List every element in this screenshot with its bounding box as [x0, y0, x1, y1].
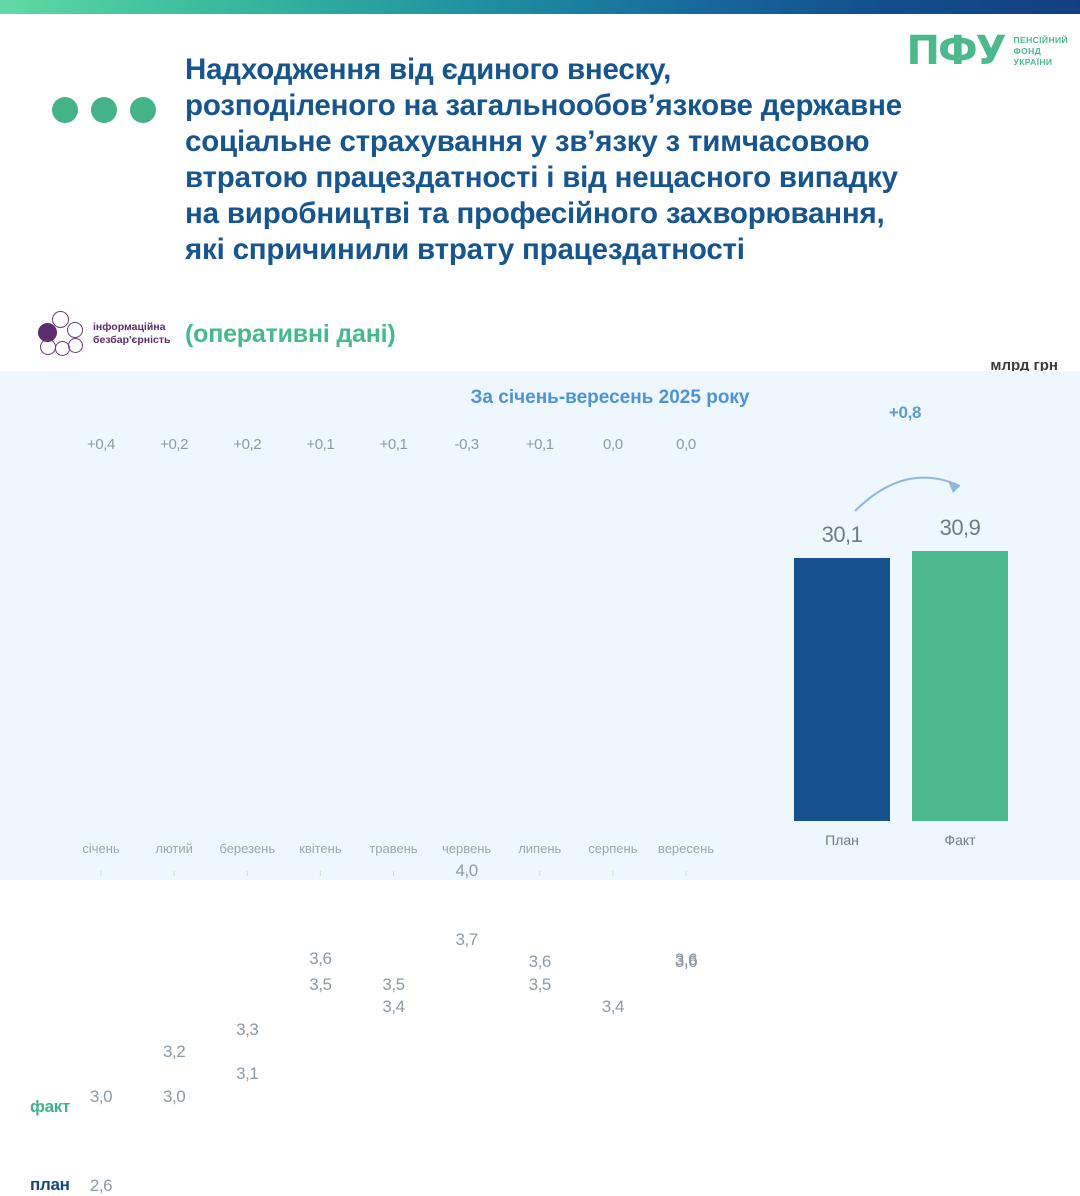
bar-category-label: Факт	[944, 832, 975, 848]
fact-value-label: 3,6	[529, 952, 551, 972]
bar-chart: +0,8 30,1План30,9Факт	[760, 371, 1080, 880]
circle-outline-3	[40, 339, 56, 355]
month-label: липень	[518, 841, 561, 856]
month-label: вересень	[658, 841, 714, 856]
decorative-dots	[52, 97, 156, 123]
bar-факт	[912, 551, 1008, 821]
bar-category-label: План	[825, 832, 859, 848]
fact-value-label: 3,0	[90, 1087, 112, 1107]
pfu-logo-caption: ПЕНСІЙНИЙ ФОНД УКРАЇНИ	[1014, 35, 1068, 68]
circle-outline-1	[52, 311, 69, 328]
plan-value-label: 3,5	[529, 975, 551, 995]
plan-value-label: 3,4	[382, 997, 404, 1017]
dot-3	[130, 97, 156, 123]
plan-value-label: 2,6	[90, 1176, 112, 1196]
accessibility-circles-icon	[38, 310, 86, 358]
axis-label-plan: план	[30, 1175, 70, 1195]
fact-value-label: 3,6	[309, 949, 331, 969]
fact-value-label: 3,2	[163, 1042, 185, 1062]
line-chart: +0,4+0,2+0,2+0,1+0,1-0,3+0,10,00,0 3,03,…	[0, 371, 760, 880]
fact-value-label: 3,3	[236, 1020, 258, 1040]
accessibility-label-line-1: інформаційна	[93, 321, 170, 334]
delta-arrow-icon	[760, 411, 1080, 531]
pfu-logo-caption-line-2: ФОНД	[1014, 46, 1068, 57]
dot-1	[52, 97, 78, 123]
line-chart-svg	[0, 371, 760, 880]
dot-2	[91, 97, 117, 123]
pfu-logo: ПФУ ПЕНСІЙНИЙ ФОНД УКРАЇНИ	[907, 32, 1068, 70]
header-section: Надходження від єдиного внеску, розподіл…	[0, 14, 1080, 371]
page-title-line-1: Надходження від єдиного внеску,	[185, 52, 1015, 88]
plan-value-label: 3,1	[236, 1064, 258, 1084]
page-title-line-3: соціальне страхування у зв’язку з тимчас…	[185, 124, 1015, 160]
chart-panel: За січень-вересень 2025 року +0,4+0,2+0,…	[0, 371, 1080, 880]
month-label: серпень	[588, 841, 637, 856]
month-label: квітень	[299, 841, 341, 856]
page-subtitle: (оперативні дані)	[185, 320, 396, 349]
month-axis: січеньлютийберезеньквітеньтравеньчервень…	[0, 841, 760, 865]
bar-value-label: 30,9	[940, 515, 981, 541]
month-label: січень	[82, 841, 119, 856]
pfu-logo-caption-line-3: УКРАЇНИ	[1014, 57, 1068, 68]
fact-value-label: 3,7	[456, 930, 478, 950]
circle-outline-5	[68, 338, 83, 353]
month-label: травень	[369, 841, 417, 856]
month-label: березень	[219, 841, 275, 856]
month-label: червень	[442, 841, 491, 856]
accessibility-logo: інформаційна безбар'єрність	[38, 310, 170, 358]
page-title: Надходження від єдиного внеску, розподіл…	[185, 52, 1015, 268]
page-title-line-6: які спричинили втрату працездатності	[185, 232, 1015, 268]
page-title-line-2: розподіленого на загальнообов’язкове дер…	[185, 88, 1015, 124]
bar-value-label: 30,1	[822, 522, 863, 548]
accessibility-label-line-2: безбар'єрність	[93, 334, 170, 347]
top-gradient-bar	[0, 0, 1080, 14]
page-title-line-5: на виробництві та професійного захворюва…	[185, 196, 1015, 232]
plan-value-label: 3,4	[602, 997, 624, 1017]
axis-label-fact: факт	[30, 1097, 70, 1117]
fact-value-label: 3,5	[382, 975, 404, 995]
circle-outline-2	[67, 322, 83, 338]
bar-план	[794, 558, 890, 821]
plan-value-label: 3,0	[163, 1087, 185, 1107]
plan-value-label: 3,6	[675, 950, 697, 970]
pfu-logo-caption-line-1: ПЕНСІЙНИЙ	[1014, 35, 1068, 46]
plan-value-label: 3,5	[309, 975, 331, 995]
delta-badge: +0,8	[889, 403, 921, 423]
accessibility-label: інформаційна безбар'єрність	[93, 321, 170, 347]
page-title-line-4: втратою працездатності і від нещасного в…	[185, 160, 1015, 196]
month-label: лютий	[155, 841, 193, 856]
pfu-logo-mark: ПФУ	[907, 32, 1005, 70]
